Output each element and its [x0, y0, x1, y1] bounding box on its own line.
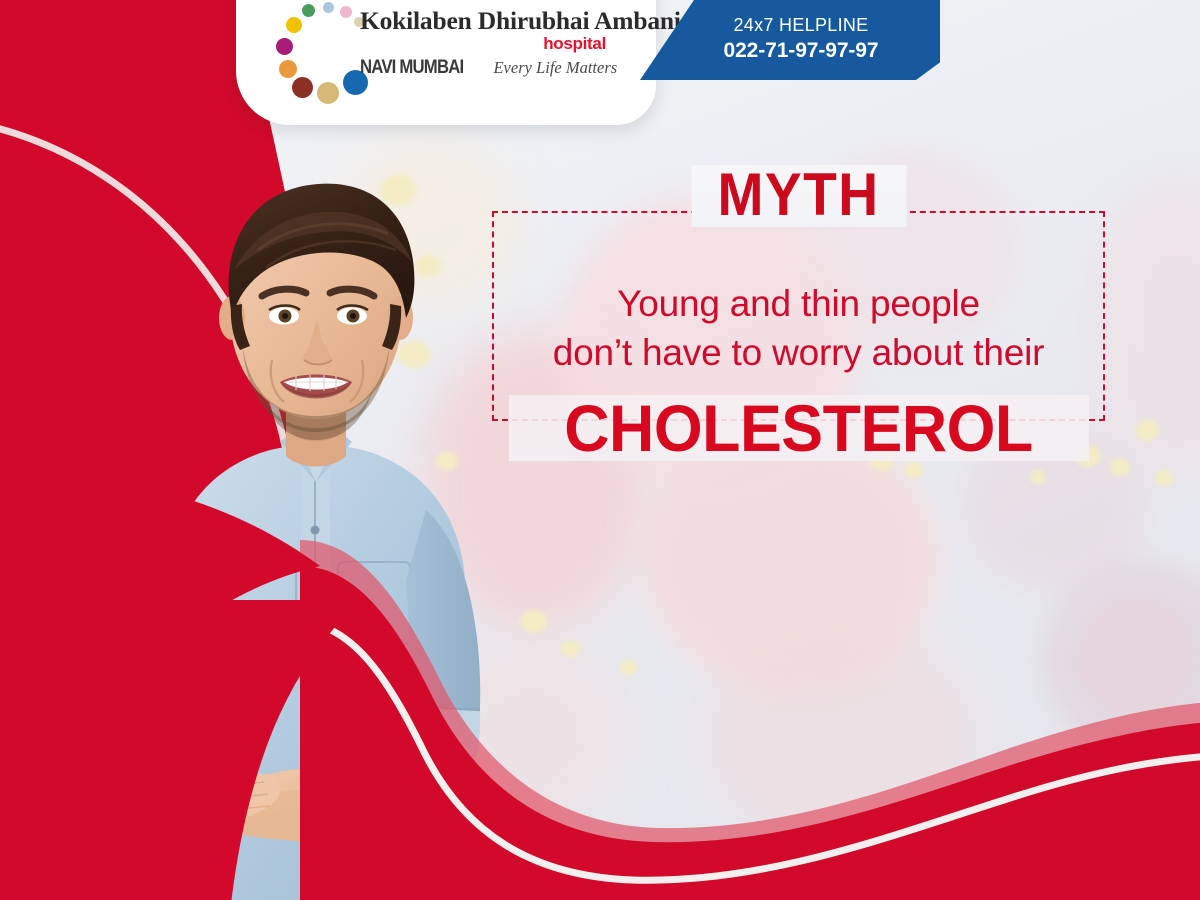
brand-name: Kokilaben Dhirubhai Ambani: [360, 8, 650, 35]
logo-dot: [286, 17, 302, 33]
cholesterol-particle: [1135, 420, 1159, 441]
brand-location: NAVI MUMBAI: [360, 57, 463, 79]
cholesterol-particle: [1030, 470, 1046, 484]
blood-cell: [700, 620, 980, 850]
poster-canvas: Kokilaben Dhirubhai Ambani hospital NAVI…: [0, 0, 1200, 900]
myth-label: MYTH: [517, 165, 1081, 225]
helpline-number[interactable]: 022-71-97-97-97: [640, 37, 940, 64]
logo-dot: [292, 77, 313, 98]
cholesterol-keyword: CHOLESTEROL: [507, 395, 1089, 461]
brand-logo-card: Kokilaben Dhirubhai Ambani hospital NAVI…: [236, 0, 656, 125]
logo-dot: [340, 6, 352, 18]
helpline-label: 24x7 HELPLINE: [640, 14, 940, 37]
logo-dot: [302, 4, 315, 17]
logo-dot: [279, 60, 297, 78]
logo-dot: [276, 38, 293, 55]
cholesterol-particle: [1155, 470, 1173, 486]
logo-dot: [323, 2, 334, 13]
cholesterol-particle: [1110, 458, 1130, 476]
brand-hospital-word: hospital: [360, 34, 606, 54]
myth-message-block: MYTH Young and thin people don’t have to…: [492, 211, 1105, 421]
myth-body-text: Young and thin people don’t have to worr…: [492, 279, 1105, 377]
myth-body-line-2: don’t have to worry about their: [492, 328, 1105, 377]
brand-tagline: Every Life Matters: [493, 58, 617, 78]
myth-body-line-1: Young and thin people: [492, 279, 1105, 328]
blood-cell: [1075, 600, 1195, 715]
logo-dot: [317, 82, 339, 104]
colored-dot-ring-icon: [272, 4, 368, 100]
cholesterol-particle: [620, 660, 637, 675]
